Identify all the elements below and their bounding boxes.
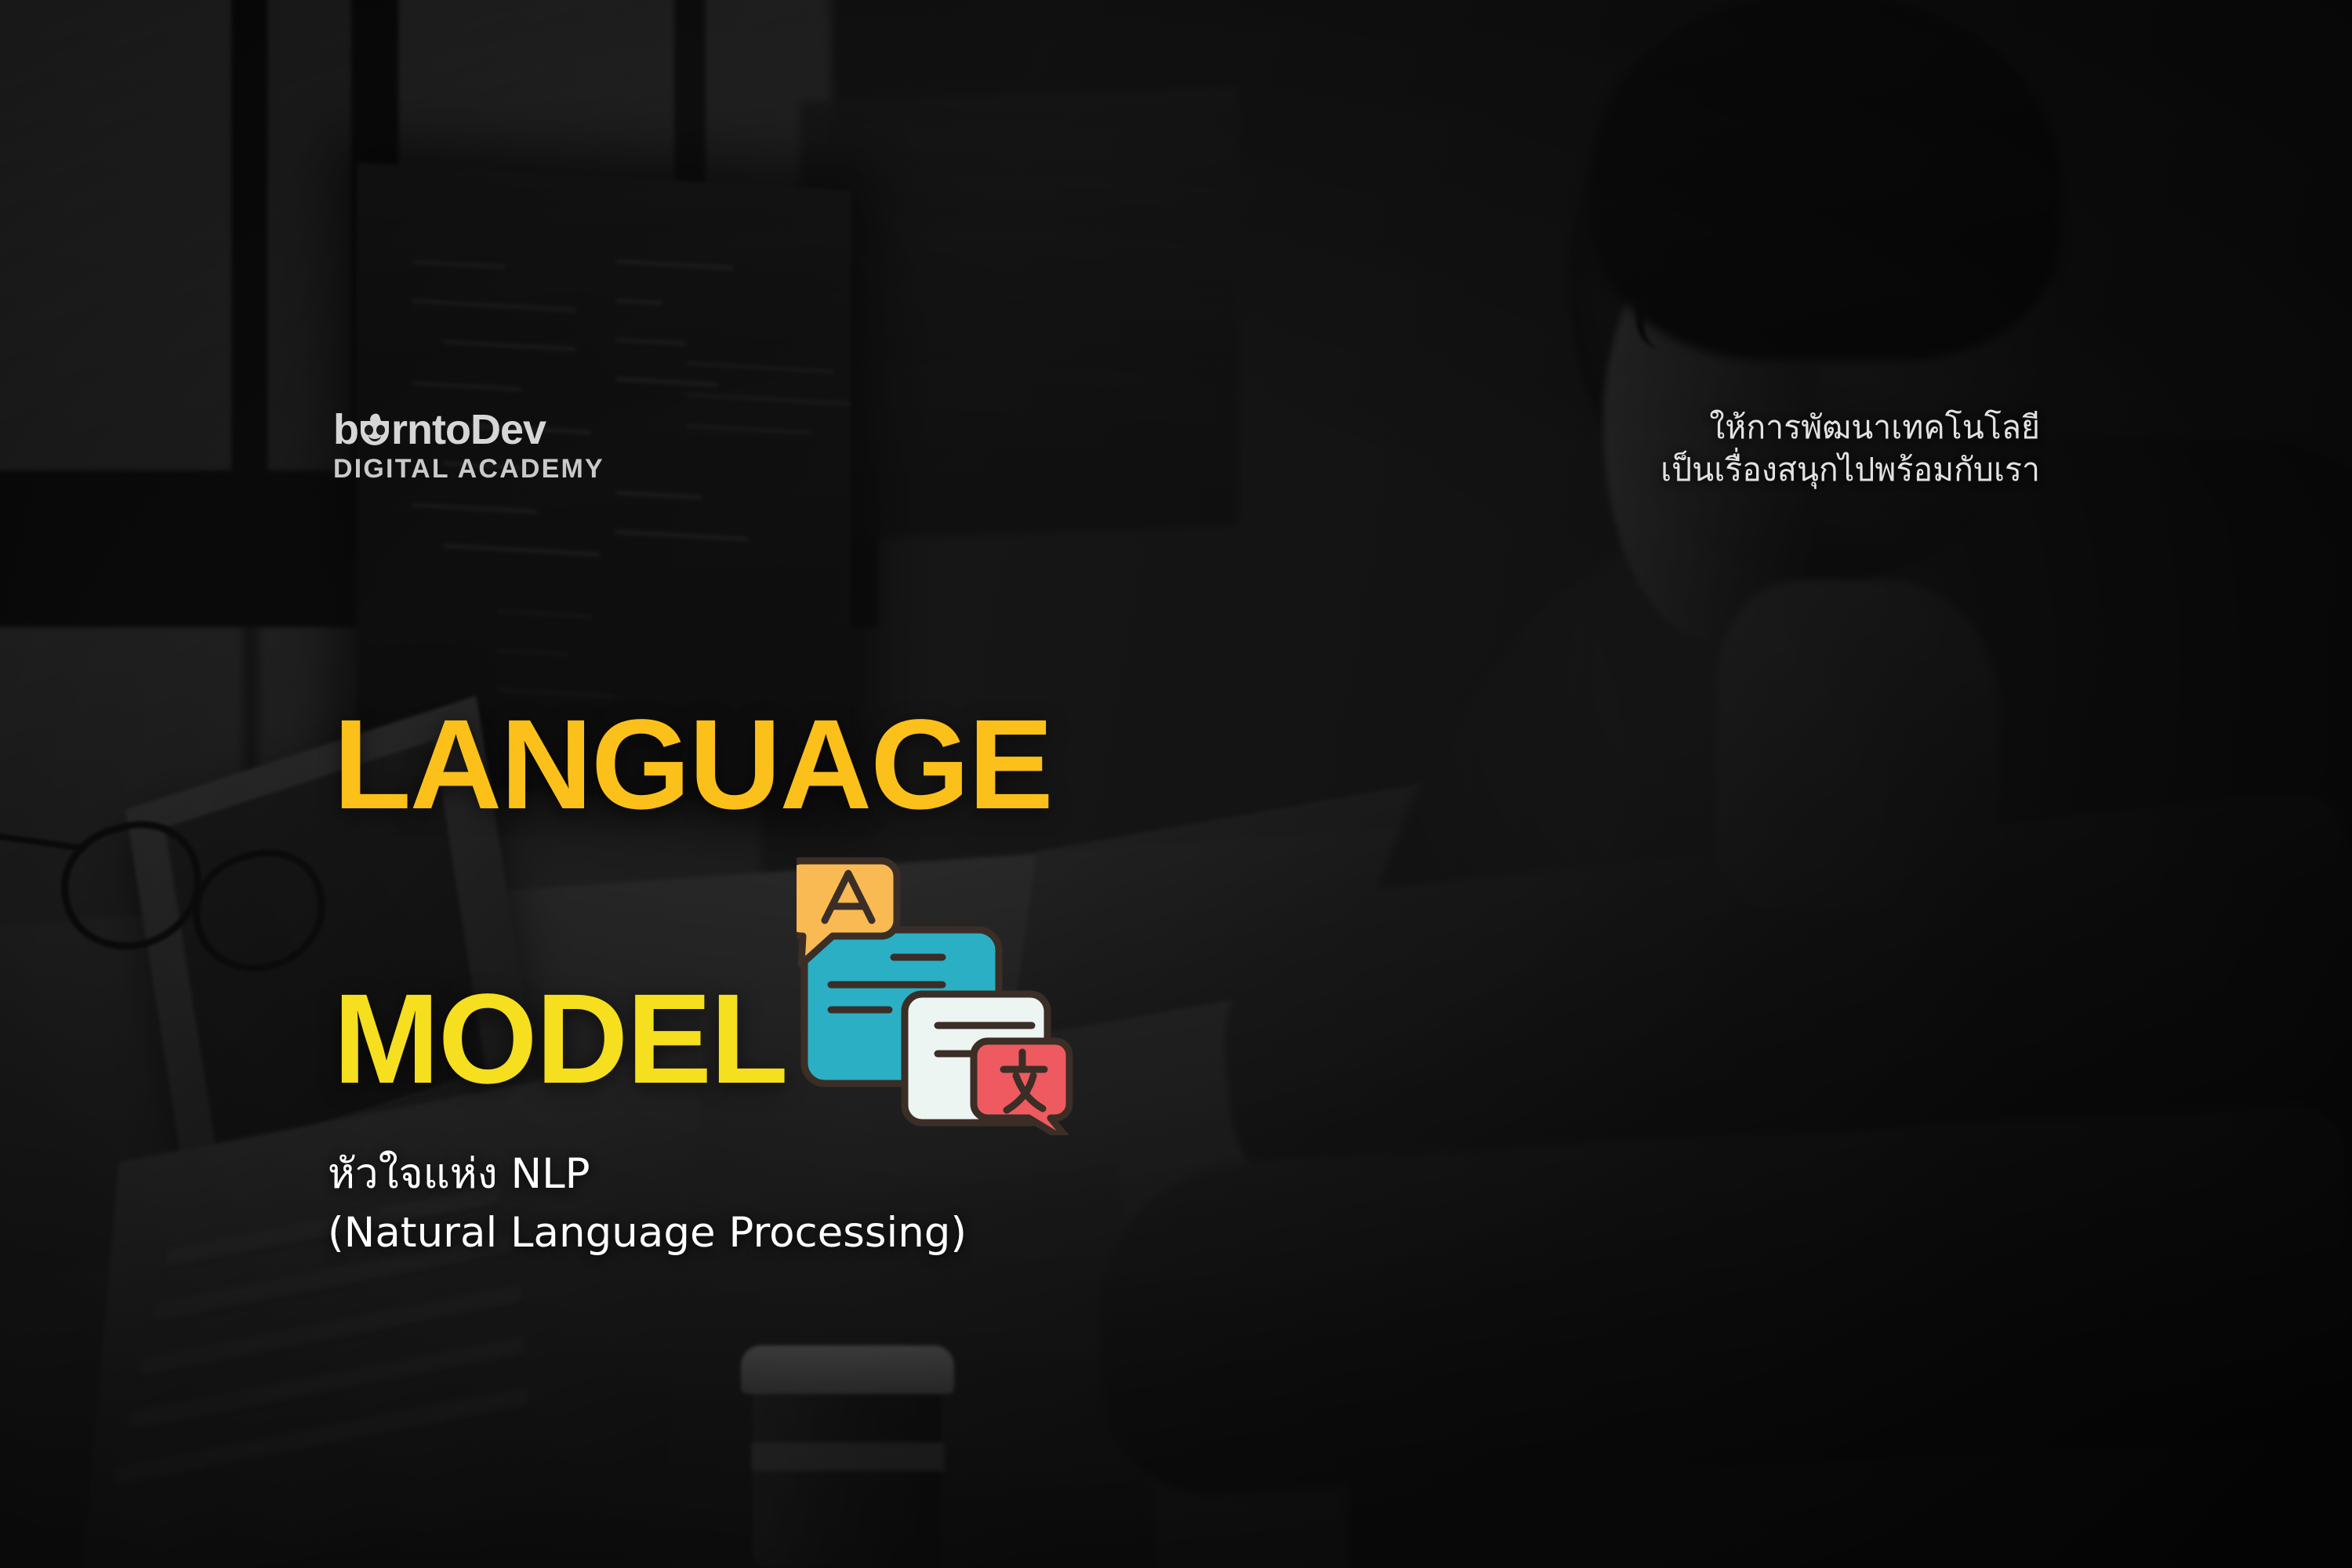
headline-line-model: MODEL: [333, 980, 787, 1098]
brand-logo-subtitle: DIGITAL ACADEMY: [333, 456, 604, 482]
brand-logo-text-first: b: [333, 408, 358, 451]
headline-line-language: LANGUAGE: [333, 706, 1079, 823]
subtitle-line-thai: หัวใจแห่ง NLP: [328, 1145, 967, 1203]
subtitle-block: หัวใจแห่ง NLP (Natural Language Processi…: [328, 1145, 967, 1263]
borntodev-turtle-mascot-icon: [359, 414, 390, 445]
slide-canvas: b rntoDev DIGITAL ACADEMY ให้การพัฒนาเทค…: [0, 0, 2352, 1568]
brand-logo: b rntoDev DIGITAL ACADEMY: [333, 408, 604, 482]
content-layer: b rntoDev DIGITAL ACADEMY ให้การพัฒนาเทค…: [0, 0, 2352, 1568]
subtitle-line-english: (Natural Language Processing): [328, 1203, 967, 1262]
brand-tagline: ให้การพัฒนาเทคโนโลยี เป็นเรื่องสนุกไปพร้…: [1661, 406, 2040, 491]
headline-line-model-row: MODEL: [333, 853, 1079, 1098]
headline-block: LANGUAGE MODEL: [333, 706, 1079, 1098]
brand-logo-wordmark: b rntoDev: [333, 408, 604, 451]
translate-language-icon: [797, 853, 1079, 1135]
brand-tagline-line1: ให้การพัฒนาเทคโนโลยี: [1661, 406, 2040, 448]
brand-logo-text-rest: rntoDev: [391, 408, 546, 451]
brand-tagline-line2: เป็นเรื่องสนุกไปพร้อมกับเรา: [1661, 448, 2040, 491]
